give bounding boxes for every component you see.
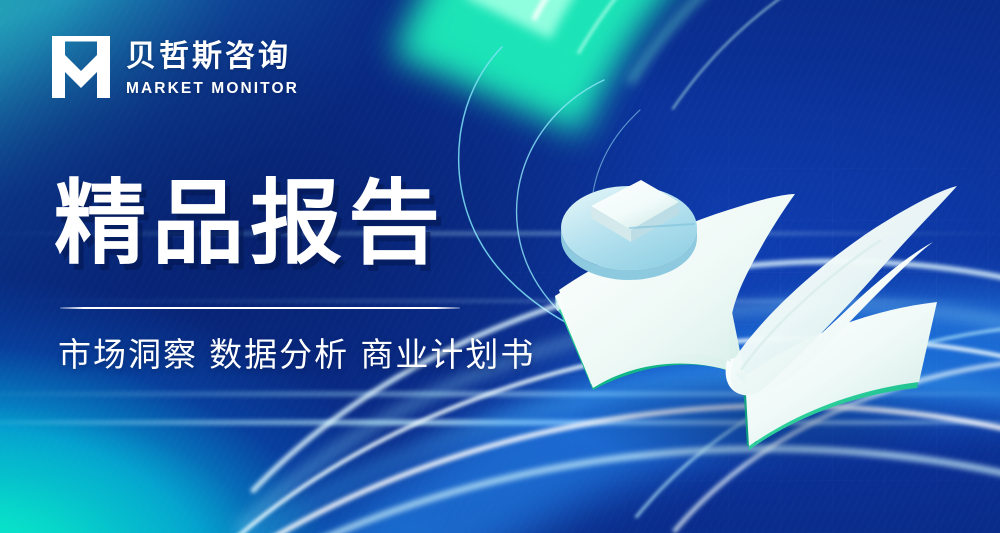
- title-divider: [60, 307, 460, 309]
- page-subtitle: 市场洞察 数据分析 商业计划书: [58, 330, 535, 380]
- open-book-illustration: [545, 150, 975, 470]
- brand-logo-text: 贝哲斯咨询 MARKET MONITOR: [126, 41, 299, 98]
- brand-name-en: MARKET MONITOR: [126, 80, 299, 98]
- page-title: 精品报告: [54, 176, 446, 274]
- brand-name-cn: 贝哲斯咨询: [126, 41, 299, 73]
- promo-banner: 贝哲斯咨询 MARKET MONITOR 精品报告 市场洞察 数据分析 商业计划…: [0, 0, 1000, 533]
- pie-chart-element: [561, 180, 697, 280]
- brand-logo[interactable]: 贝哲斯咨询 MARKET MONITOR: [52, 36, 299, 103]
- market-monitor-m-mark-icon: [52, 36, 110, 103]
